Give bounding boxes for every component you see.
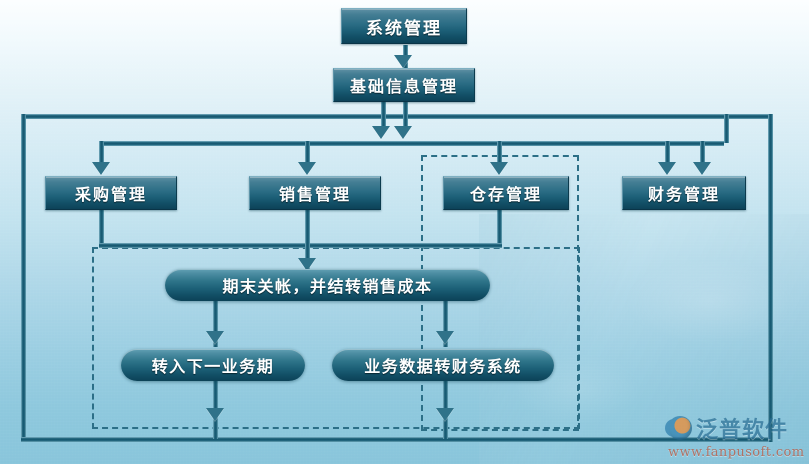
node-finance-management[interactable]: 财务管理 bbox=[622, 176, 746, 210]
node-data-to-finance[interactable]: 业务数据转财务系统 bbox=[332, 349, 554, 381]
node-period-close[interactable]: 期末关帐，并结转销售成本 bbox=[165, 269, 490, 301]
node-inventory-management-label: 仓存管理 bbox=[470, 181, 542, 205]
node-data-to-finance-label: 业务数据转财务系统 bbox=[364, 353, 522, 377]
connector-sales-down bbox=[305, 208, 310, 248]
arrow-rail-to-sales bbox=[298, 162, 316, 175]
node-next-period[interactable]: 转入下一业务期 bbox=[121, 349, 305, 381]
arrow-basic-down-right bbox=[394, 126, 412, 139]
node-next-period-label: 转入下一业务期 bbox=[152, 353, 275, 377]
node-inventory-management[interactable]: 仓存管理 bbox=[443, 176, 569, 210]
connector-merge-rail bbox=[99, 243, 502, 248]
arrow-data-finance-to-bottom bbox=[436, 408, 454, 421]
fanpu-logo-icon bbox=[668, 416, 692, 440]
arrow-rail-to-inventory bbox=[490, 162, 508, 175]
arrow-basic-down-left bbox=[372, 126, 390, 139]
watermark-brand: 泛普软件 bbox=[696, 412, 788, 444]
arrow-close-to-data-finance bbox=[436, 331, 454, 344]
node-period-close-label: 期末关帐，并结转销售成本 bbox=[222, 273, 432, 297]
watermark: 泛普软件 www.fanpusoft.com bbox=[668, 412, 808, 460]
connector-outer-right-rail bbox=[768, 114, 773, 442]
watermark-url: www.fanpusoft.com bbox=[668, 445, 808, 460]
node-basic-info-management[interactable]: 基础信息管理 bbox=[333, 68, 475, 102]
connector-inventory-down bbox=[497, 208, 502, 248]
connector-inner-distribution-rail bbox=[99, 141, 724, 146]
flowchart-canvas: 系统管理 基础信息管理 采购管理 销售管理 仓存管理 财务管理 期末关帐，并结转… bbox=[0, 0, 809, 464]
connector-outer-bottom-rail bbox=[21, 437, 773, 442]
node-system-management[interactable]: 系统管理 bbox=[341, 8, 467, 44]
arrow-rail-to-purchase bbox=[92, 162, 110, 175]
connector-right-rail-stub bbox=[724, 114, 729, 143]
connector-outer-top-rail bbox=[21, 114, 773, 119]
node-basic-info-management-label: 基础信息管理 bbox=[350, 73, 458, 97]
node-purchase-management[interactable]: 采购管理 bbox=[45, 176, 177, 210]
arrow-rail-to-finance-b bbox=[693, 162, 711, 175]
node-system-management-label: 系统管理 bbox=[366, 14, 442, 39]
arrow-system-to-basic bbox=[394, 55, 412, 68]
arrow-rail-to-finance-a bbox=[658, 162, 676, 175]
arrow-close-to-next-period bbox=[206, 331, 224, 344]
arrow-next-period-to-bottom bbox=[206, 408, 224, 421]
node-finance-management-label: 财务管理 bbox=[648, 181, 720, 205]
connector-outer-left-rail bbox=[21, 114, 26, 442]
node-sales-management-label: 销售管理 bbox=[279, 181, 351, 205]
connector-purchase-down bbox=[99, 208, 104, 248]
node-purchase-management-label: 采购管理 bbox=[75, 181, 147, 205]
node-sales-management[interactable]: 销售管理 bbox=[249, 176, 381, 210]
watermark-top-row: 泛普软件 bbox=[668, 412, 808, 444]
